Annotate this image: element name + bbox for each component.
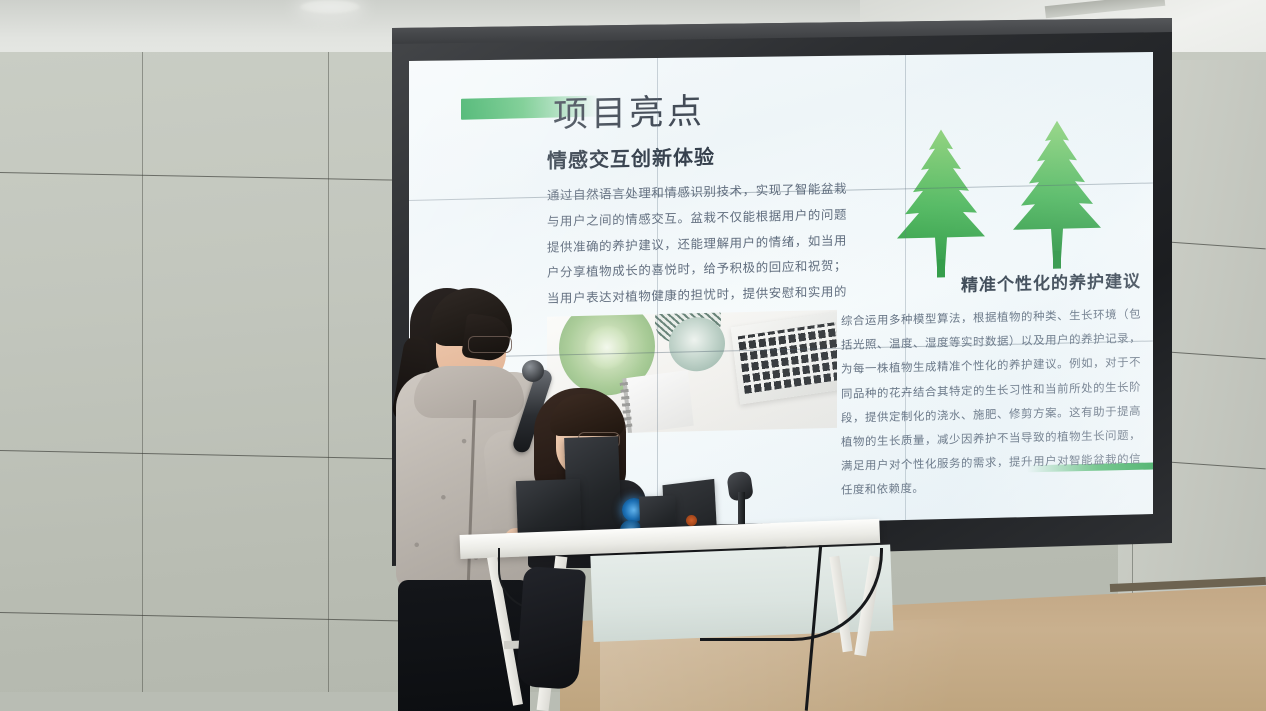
slide-title: 项目亮点 xyxy=(553,83,705,138)
videowall-panel-seam xyxy=(905,52,906,532)
pine-tree-icon xyxy=(879,126,1003,279)
microphone-head xyxy=(522,360,544,382)
left-section-heading: 情感交互创新体验 xyxy=(547,138,847,174)
laptop-logo xyxy=(686,515,697,526)
tree-illustration-group xyxy=(879,117,1137,273)
bowl-icon xyxy=(669,317,725,372)
ceiling-downlight xyxy=(300,0,360,14)
bag xyxy=(516,566,586,690)
wall-seam xyxy=(0,612,400,621)
eyeglasses-icon xyxy=(468,336,512,353)
wall-seam xyxy=(0,450,400,459)
left-content-column: 情感交互创新体验 通过自然语言处理和情感识别技术，实现了智能盆栽与用户之间的情感… xyxy=(547,138,847,338)
laptop-icon xyxy=(731,311,837,404)
videowall-panel-seam xyxy=(657,52,658,532)
wall-seam xyxy=(328,52,329,692)
wall-seam xyxy=(142,52,143,692)
right-content-column: 精准个性化的养护建议 综合运用多种模型算法，根据植物的种类、生长环境（包括光照、… xyxy=(841,267,1141,502)
keyboard-icon xyxy=(738,322,837,394)
right-section-body: 综合运用多种模型算法，根据植物的种类、生长环境（包括光照、温度、湿度等实时数据）… xyxy=(841,302,1141,502)
wall-seam xyxy=(0,172,400,181)
presentation-room-photo: 项目亮点 情感交互创新体验 通过自然语言处理和情感识别技术，实现了智能盆栽与用户… xyxy=(0,0,1266,711)
pine-tree-icon xyxy=(995,117,1119,270)
hood xyxy=(414,366,524,418)
